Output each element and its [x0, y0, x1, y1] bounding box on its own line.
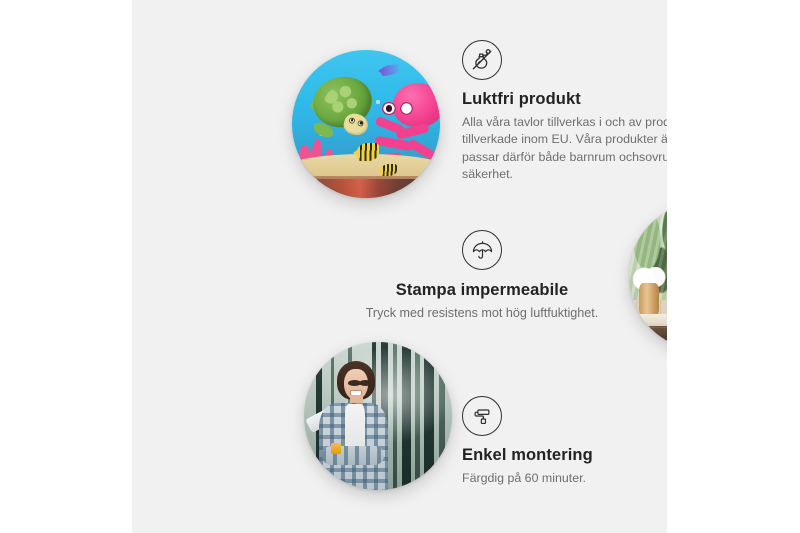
umbrella-icon — [462, 230, 502, 270]
feature-title: Stampa impermeabile — [337, 280, 627, 301]
paint-roller-icon — [462, 396, 502, 436]
feature-image-waterproof-print — [629, 202, 667, 350]
feature-image-easy-mounting — [304, 342, 452, 490]
feature-title: Enkel montering — [462, 445, 667, 466]
bathroom-photo — [629, 202, 667, 350]
feature-odor-free: Luktfri produkt Alla våra tavlor tillver… — [462, 40, 667, 184]
no-perfume-icon — [462, 40, 502, 80]
feature-panel: Luktfri produkt Alla våra tavlor tillver… — [132, 0, 667, 533]
feature-title: Luktfri produkt — [462, 89, 667, 110]
feature-easy-mounting: Enkel montering Färgdig på 60 minuter. — [462, 396, 667, 487]
screenshot-canvas: Luktfri produkt Alla våra tavlor tillver… — [0, 0, 800, 533]
feature-body: Alla våra tavlor tillverkas i och av pro… — [462, 114, 667, 184]
feature-body: Färgdig på 60 minuter. — [462, 470, 667, 488]
feature-image-odor-free — [292, 50, 440, 198]
woman-with-roller-photo — [304, 342, 452, 490]
underwater-illustration — [292, 50, 440, 198]
feature-body: Tryck med resistens mot hög luftfuktighe… — [337, 305, 627, 323]
feature-waterproof-print: Stampa impermeabile Tryck med resistens … — [337, 230, 627, 323]
